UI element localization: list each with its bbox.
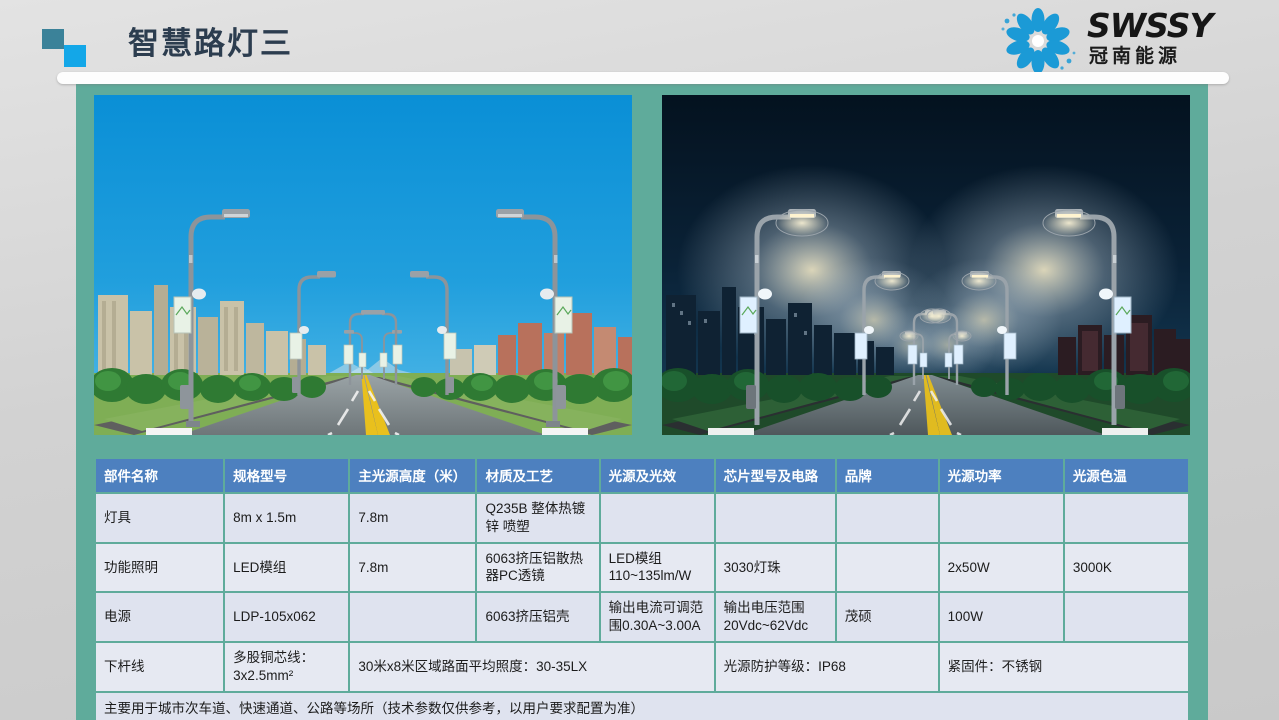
cell-power <box>940 494 1063 542</box>
image-gallery <box>94 95 1190 435</box>
cell-material: 6063挤压铝壳 <box>477 593 598 641</box>
square-bright-icon <box>64 45 86 67</box>
cell-illuminance: 30米x8米区域路面平均照度：30-35LX <box>350 643 713 691</box>
col-header-color-temp: 光源色温 <box>1065 459 1188 492</box>
col-header-material: 材质及工艺 <box>477 459 598 492</box>
col-header-chip-circuit: 芯片型号及电路 <box>716 459 835 492</box>
brand-subtitle: 冠南能源 <box>1089 45 1181 69</box>
company-logo: SWSSY 冠南能源 <box>995 5 1257 77</box>
cell-light-source: 输出电流可调范围0.30A~3.00A <box>601 593 714 641</box>
cell-chip-circuit <box>716 494 835 542</box>
droplet-burst-icon <box>995 7 1081 75</box>
cell-material: 6063挤压铝散热器PC透镜 <box>477 544 598 592</box>
brand-name: SWSSY <box>1087 8 1212 44</box>
cell-light-source: LED模组110~135lm/W <box>601 544 714 592</box>
col-header-brand: 品牌 <box>837 459 938 492</box>
cell-part-name: 灯具 <box>96 494 223 542</box>
header-divider <box>57 72 1229 84</box>
cell-color-temp <box>1065 494 1188 542</box>
street-lights-nighttime-image <box>662 95 1190 435</box>
square-dark-icon <box>42 29 64 49</box>
cell-part-name: 电源 <box>96 593 223 641</box>
cell-light-height: 7.8m <box>350 494 475 542</box>
col-header-part-name: 部件名称 <box>96 459 223 492</box>
cell-brand <box>837 494 938 542</box>
table-row: 灯具 8m x 1.5m 7.8m Q235B 整体热镀锌 喷塑 <box>96 494 1188 542</box>
cell-material: Q235B 整体热镀锌 喷塑 <box>477 494 598 542</box>
cell-spec-model: 多股铜芯线：3x2.5mm² <box>225 643 348 691</box>
cell-part-name: 功能照明 <box>96 544 223 592</box>
table-footnote: 主要用于城市次车道、快速通道、公路等场所（技术参数仅供参考，以用户要求配置为准） <box>96 693 1188 720</box>
col-header-light-height: 主光源高度（米） <box>350 459 475 492</box>
content-panel: 部件名称 规格型号 主光源高度（米） 材质及工艺 光源及光效 芯片型号及电路 品… <box>76 78 1208 720</box>
table-row: 功能照明 LED模组 7.8m 6063挤压铝散热器PC透镜 LED模组110~… <box>96 544 1188 592</box>
page-title: 智慧路灯三 <box>128 22 293 66</box>
cell-chip-circuit: 3030灯珠 <box>716 544 835 592</box>
cell-brand: 茂硕 <box>837 593 938 641</box>
cell-protection-grade: 光源防护等级：IP68 <box>716 643 938 691</box>
cell-color-temp: 3000K <box>1065 544 1188 592</box>
cell-spec-model: 8m x 1.5m <box>225 494 348 542</box>
two-squares-icon <box>42 29 88 67</box>
col-header-spec-model: 规格型号 <box>225 459 348 492</box>
cell-spec-model: LDP-105x062 <box>225 593 348 641</box>
table-footnote-row: 主要用于城市次车道、快速通道、公路等场所（技术参数仅供参考，以用户要求配置为准） <box>96 693 1188 720</box>
cell-light-source <box>601 494 714 542</box>
cell-power: 100W <box>940 593 1063 641</box>
cell-light-height <box>350 593 475 641</box>
street-lights-daytime-image <box>94 95 632 435</box>
cell-color-temp <box>1065 593 1188 641</box>
cell-part-name: 下杆线 <box>96 643 223 691</box>
table-row: 下杆线 多股铜芯线：3x2.5mm² 30米x8米区域路面平均照度：30-35L… <box>96 643 1188 691</box>
specification-table: 部件名称 规格型号 主光源高度（米） 材质及工艺 光源及光效 芯片型号及电路 品… <box>94 457 1190 720</box>
cell-power: 2x50W <box>940 544 1063 592</box>
table-header-row: 部件名称 规格型号 主光源高度（米） 材质及工艺 光源及光效 芯片型号及电路 品… <box>96 459 1188 492</box>
cell-spec-model: LED模组 <box>225 544 348 592</box>
cell-fastener: 紧固件：不锈钢 <box>940 643 1188 691</box>
col-header-light-source: 光源及光效 <box>601 459 714 492</box>
table-row: 电源 LDP-105x062 6063挤压铝壳 输出电流可调范围0.30A~3.… <box>96 593 1188 641</box>
cell-light-height: 7.8m <box>350 544 475 592</box>
cell-chip-circuit: 输出电压范围20Vdc~62Vdc <box>716 593 835 641</box>
col-header-power: 光源功率 <box>940 459 1063 492</box>
cell-brand <box>837 544 938 592</box>
